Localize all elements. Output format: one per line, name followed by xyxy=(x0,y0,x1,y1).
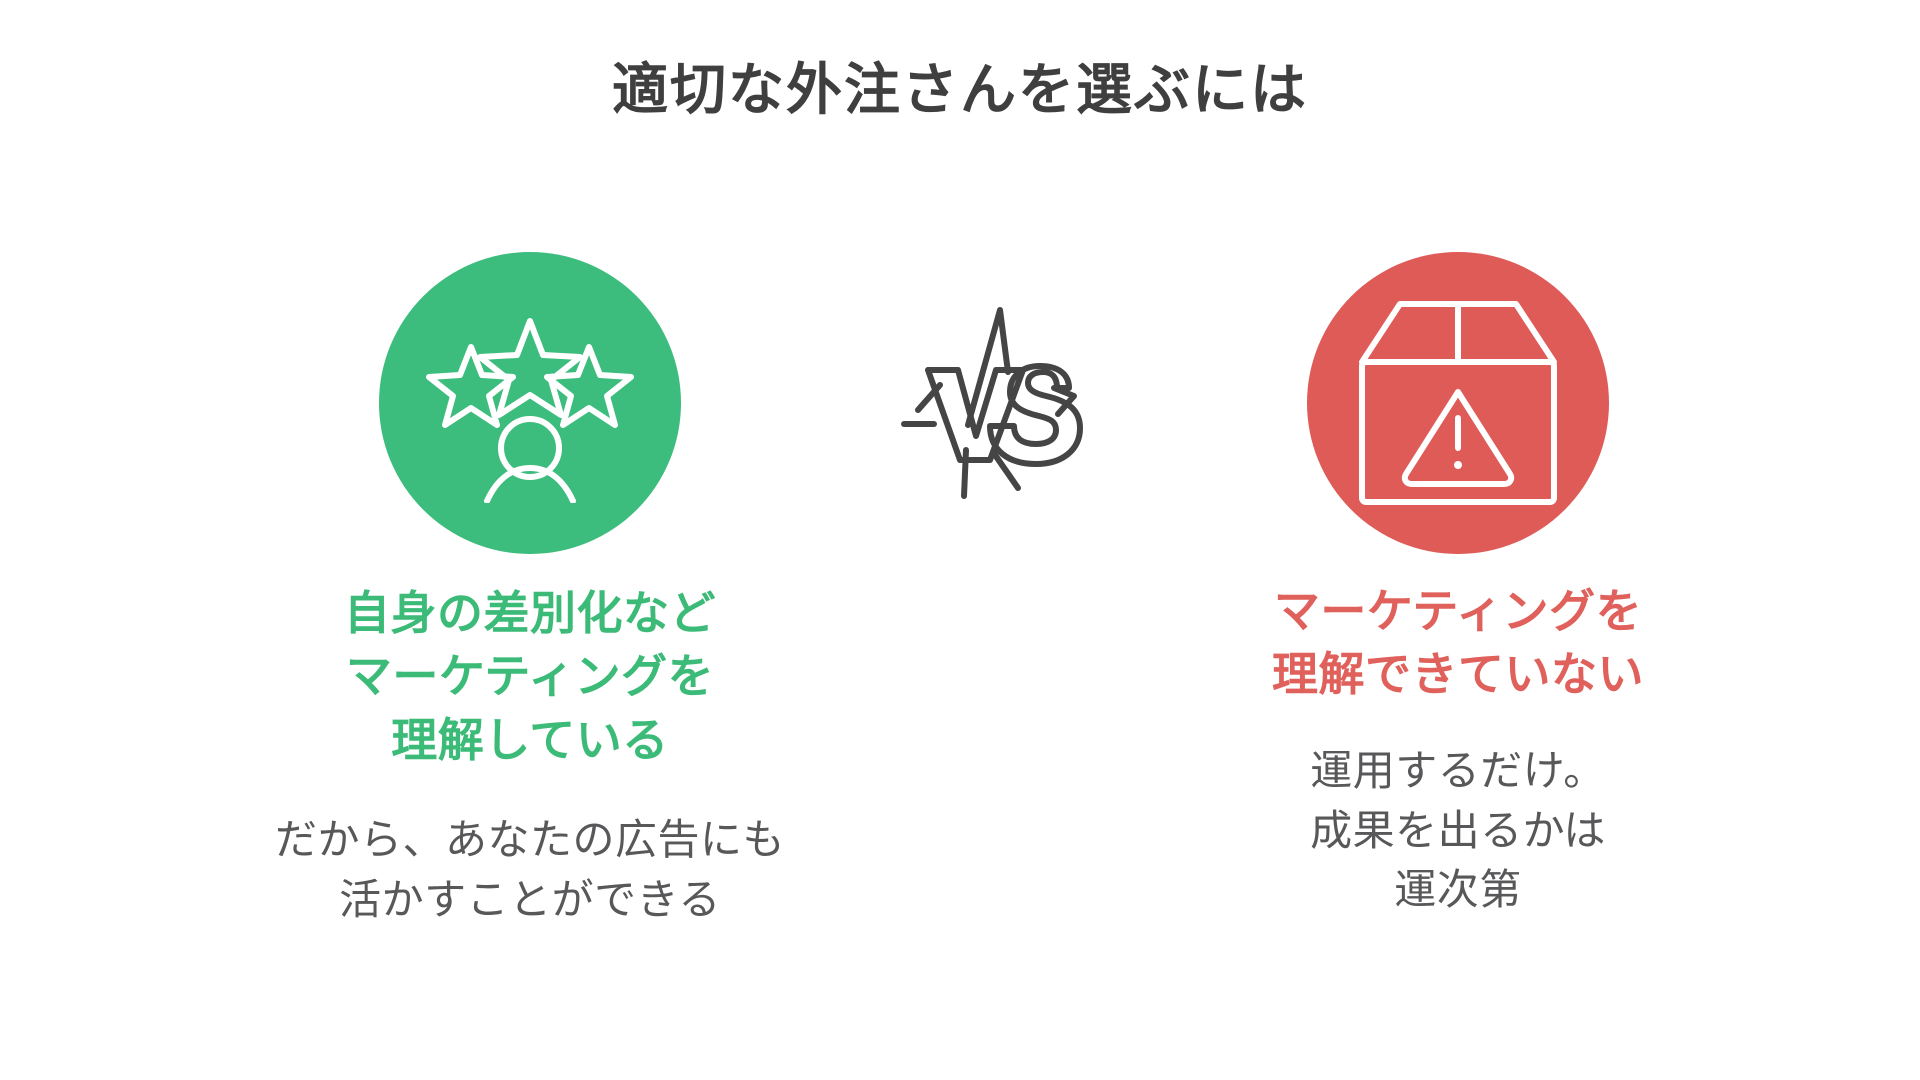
bad-heading: マーケティングを 理解できていない xyxy=(1138,580,1778,707)
bad-icon-wrap xyxy=(1138,250,1778,556)
comparison-side-bad: マーケティングを 理解できていない 運用するだけ。 成果を出るかは 運次第 xyxy=(1138,250,1778,920)
bad-body-text: 運用するだけ。 成果を出るかは 運次第 xyxy=(1138,741,1778,920)
vs-divider xyxy=(898,300,1088,500)
page-title: 適切な外注さんを選ぶには xyxy=(0,56,1920,123)
good-icon-wrap xyxy=(210,250,850,556)
comparison-side-good: 自身の差別化など マーケティングを 理解している だから、あなたの広告にも 活か… xyxy=(210,250,850,930)
bad-icon-circle xyxy=(1307,252,1609,554)
slide-canvas: 適切な外注さんを選ぶには xyxy=(0,0,1920,1080)
good-body-text: だから、あなたの広告にも 活かすことができる xyxy=(210,810,850,929)
good-heading: 自身の差別化など マーケティングを 理解している xyxy=(210,582,850,772)
vs-burst-icon xyxy=(898,300,1088,500)
person-three-stars-icon xyxy=(425,303,635,503)
good-icon-circle xyxy=(379,252,681,554)
package-warning-icon xyxy=(1358,300,1558,506)
